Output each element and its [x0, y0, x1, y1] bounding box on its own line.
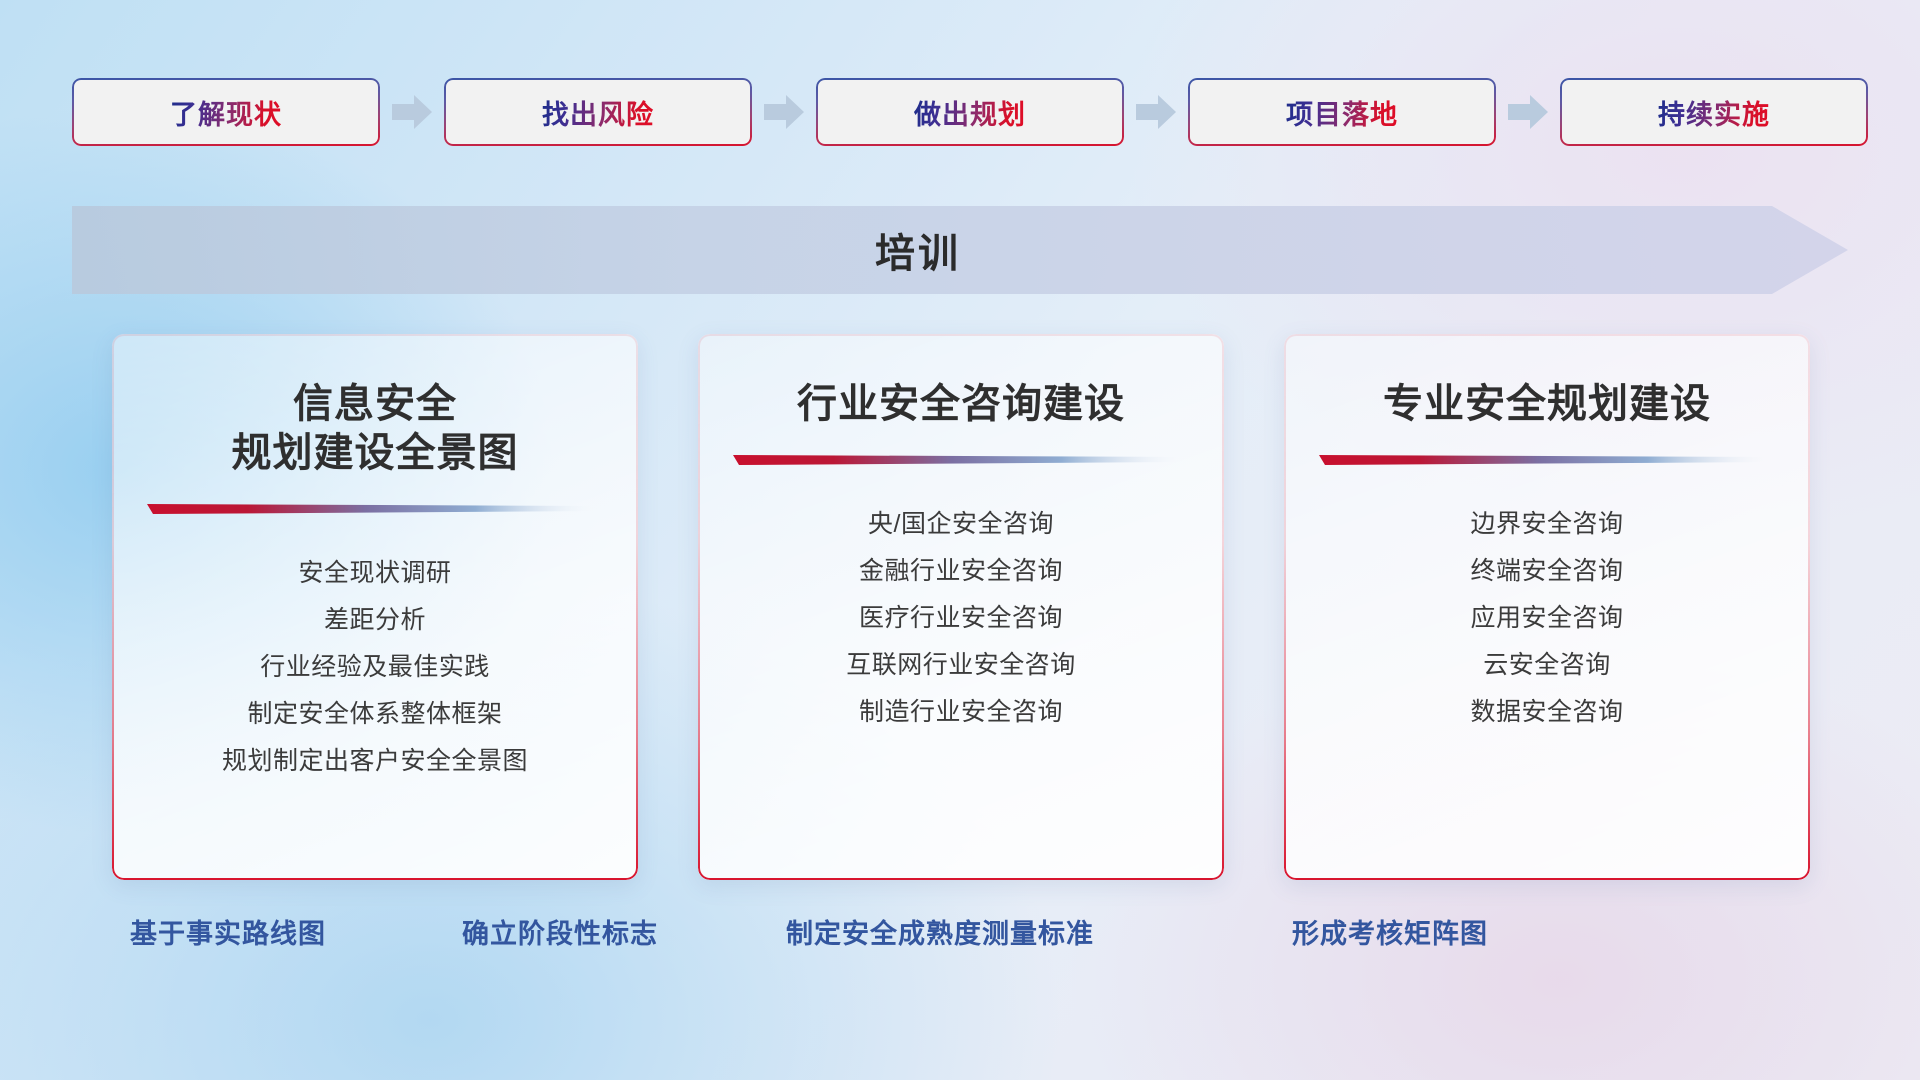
- list-item: 规划制定出客户安全全景图: [138, 738, 612, 785]
- card-item-list: 边界安全咨询终端安全咨询应用安全咨询云安全咨询数据安全咨询: [1310, 501, 1784, 736]
- arrow-right-icon: [1124, 78, 1188, 146]
- process-step-label: 持续实施: [1658, 93, 1770, 132]
- process-step-3[interactable]: 做出规划: [816, 78, 1124, 146]
- card-item-list: 安全现状调研差距分析行业经验及最佳实践制定安全体系整体框架规划制定出客户安全全景…: [138, 550, 612, 785]
- list-item: 央/国企安全咨询: [724, 501, 1198, 548]
- arrow-right-icon: [752, 78, 816, 146]
- list-item: 应用安全咨询: [1310, 595, 1784, 642]
- training-banner: 培训: [72, 206, 1848, 294]
- list-item: 边界安全咨询: [1310, 501, 1784, 548]
- list-item: 终端安全咨询: [1310, 548, 1784, 595]
- list-item: 金融行业安全咨询: [724, 548, 1198, 595]
- caption-2: 确立阶段性标志: [462, 912, 658, 951]
- process-step-label: 了解现状: [170, 93, 282, 132]
- list-item: 数据安全咨询: [1310, 689, 1784, 736]
- card-body: 行业安全咨询建设央/国企安全咨询金融行业安全咨询医疗行业安全咨询互联网行业安全咨…: [698, 334, 1224, 880]
- list-item: 行业经验及最佳实践: [138, 644, 612, 691]
- card-title: 专业安全规划建设: [1383, 380, 1711, 429]
- list-item: 医疗行业安全咨询: [724, 595, 1198, 642]
- card-title: 行业安全咨询建设: [797, 380, 1125, 429]
- process-step-4[interactable]: 项目落地: [1188, 78, 1496, 146]
- arrow-right-icon: [380, 78, 444, 146]
- list-item: 互联网行业安全咨询: [724, 642, 1198, 689]
- process-step-row: 了解现状找出风险做出规划项目落地持续实施: [72, 78, 1848, 146]
- caption-row: 基于事实路线图确立阶段性标志制定安全成熟度测量标准形成考核矩阵图: [0, 912, 1920, 972]
- slide-canvas: 了解现状找出风险做出规划项目落地持续实施 培训 信息安全 规划建设全景图安全现状…: [0, 0, 1920, 1080]
- gradient-divider-icon: [1319, 453, 1775, 467]
- card-title: 信息安全 规划建设全景图: [232, 380, 519, 478]
- process-step-label: 做出规划: [914, 93, 1026, 132]
- caption-3: 制定安全成熟度测量标准: [786, 912, 1094, 951]
- arrow-right-icon: [1496, 78, 1560, 146]
- caption-1: 基于事实路线图: [130, 912, 326, 951]
- process-step-label: 找出风险: [542, 93, 654, 132]
- service-card-2[interactable]: 行业安全咨询建设央/国企安全咨询金融行业安全咨询医疗行业安全咨询互联网行业安全咨…: [698, 334, 1224, 880]
- list-item: 安全现状调研: [138, 550, 612, 597]
- process-step-5[interactable]: 持续实施: [1560, 78, 1868, 146]
- card-body: 专业安全规划建设边界安全咨询终端安全咨询应用安全咨询云安全咨询数据安全咨询: [1284, 334, 1810, 880]
- card-item-list: 央/国企安全咨询金融行业安全咨询医疗行业安全咨询互联网行业安全咨询制造行业安全咨…: [724, 501, 1198, 736]
- card-body: 信息安全 规划建设全景图安全现状调研差距分析行业经验及最佳实践制定安全体系整体框…: [112, 334, 638, 880]
- list-item: 差距分析: [138, 597, 612, 644]
- service-card-1[interactable]: 信息安全 规划建设全景图安全现状调研差距分析行业经验及最佳实践制定安全体系整体框…: [112, 334, 638, 880]
- caption-4: 形成考核矩阵图: [1292, 912, 1488, 951]
- service-card-3[interactable]: 专业安全规划建设边界安全咨询终端安全咨询应用安全咨询云安全咨询数据安全咨询: [1284, 334, 1810, 880]
- process-step-label: 项目落地: [1286, 93, 1398, 132]
- process-step-1[interactable]: 了解现状: [72, 78, 380, 146]
- gradient-divider-icon: [147, 502, 603, 516]
- card-row: 信息安全 规划建设全景图安全现状调研差距分析行业经验及最佳实践制定安全体系整体框…: [112, 334, 1812, 880]
- gradient-divider-icon: [733, 453, 1189, 467]
- banner-title: 培训: [72, 206, 1848, 294]
- list-item: 云安全咨询: [1310, 642, 1784, 689]
- list-item: 制造行业安全咨询: [724, 689, 1198, 736]
- list-item: 制定安全体系整体框架: [138, 691, 612, 738]
- process-step-2[interactable]: 找出风险: [444, 78, 752, 146]
